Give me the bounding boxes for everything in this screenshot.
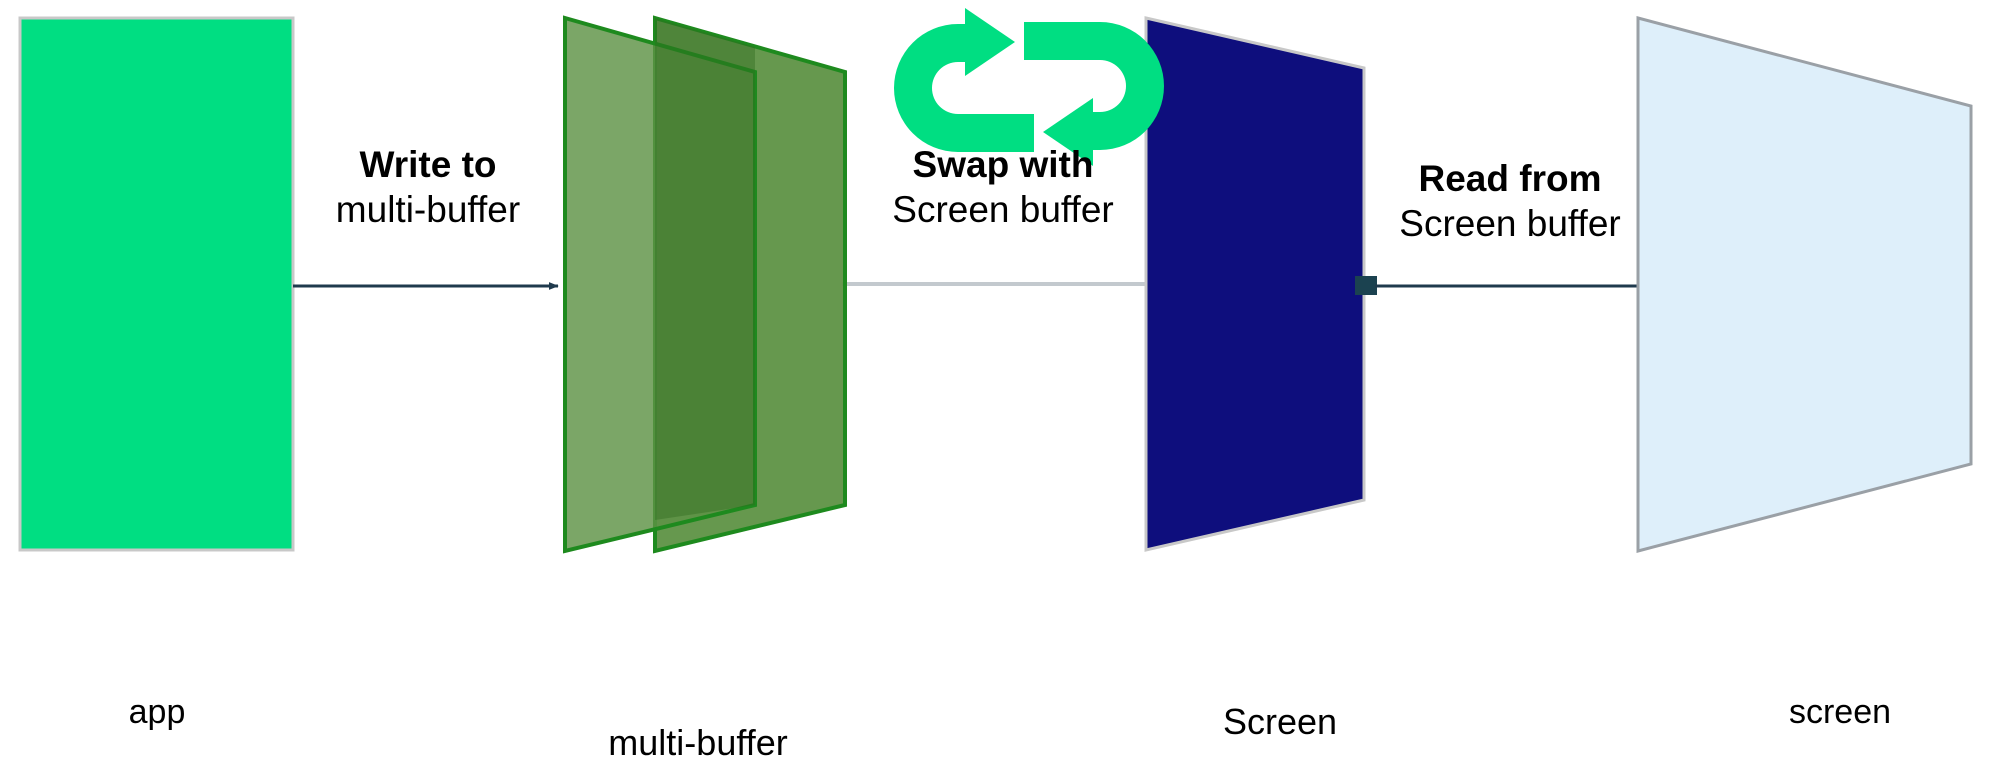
diagram-canvas: Write to multi-buffer Swap with Screen b… — [0, 0, 1999, 771]
edge-label-swap: Swap with Screen buffer — [838, 142, 1168, 232]
node-screen-shape[interactable] — [1638, 18, 1971, 551]
node-app-shape[interactable] — [20, 18, 293, 550]
edge-write-plain: multi-buffer — [268, 187, 588, 232]
edge-swap-bold: Swap with — [838, 142, 1168, 187]
edge-label-read: Read from Screen buffer — [1340, 156, 1680, 246]
edge-read-plain: Screen buffer — [1340, 201, 1680, 246]
edge-write-bold: Write to — [268, 142, 588, 187]
edge-swap-plain: Screen buffer — [838, 187, 1168, 232]
edge-read-bold: Read from — [1340, 156, 1680, 201]
diagram-svg — [0, 0, 1999, 771]
edge-read-square-marker — [1355, 276, 1377, 295]
node-multibuffer-overlap — [655, 18, 755, 520]
node-screenbuffer-shape[interactable] — [1146, 18, 1364, 550]
edge-label-write: Write to multi-buffer — [268, 142, 588, 232]
